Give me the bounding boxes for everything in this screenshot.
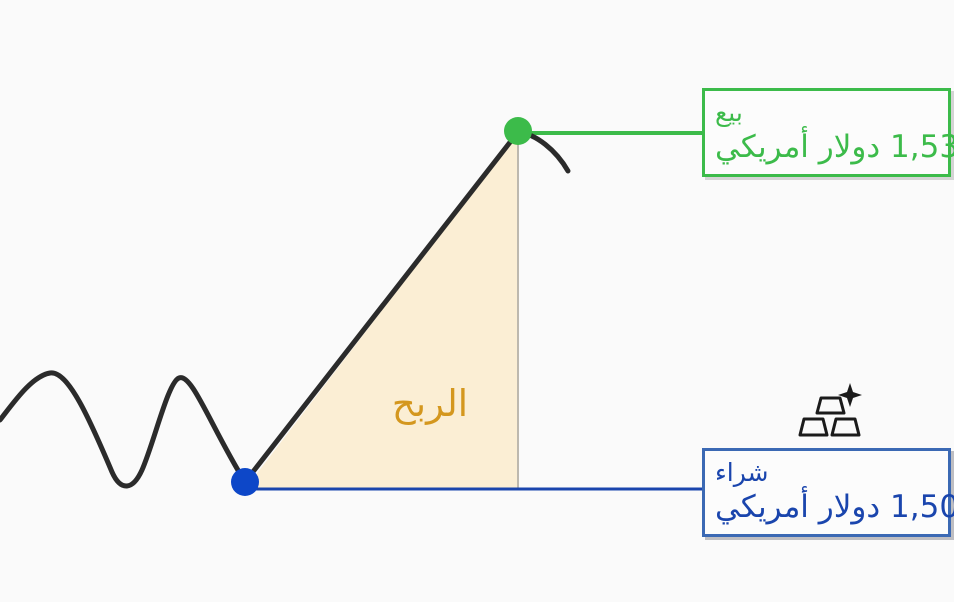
sell-point-marker[interactable] [504,117,532,145]
buy-callout-value: 1,500 دولار أمريكي [715,488,954,526]
gold-bar-bottom-left [800,419,827,435]
gold-bar-bottom-right [832,419,859,435]
gold-bars-icon [795,383,863,439]
buy-callout-box[interactable]: شراء 1,500 دولار أمريكي [702,448,951,537]
sell-callout-label: بيع [715,98,743,128]
gold-bar-top [817,398,844,413]
buy-callout-label: شراء [715,458,768,488]
gold-trade-diagram: الربح بيع 1,530 دولار أمريكي شراء 1,500 … [0,0,954,602]
buy-point-marker[interactable] [231,468,259,496]
sell-callout-value: 1,530 دولار أمريكي [715,128,954,166]
sell-callout-box[interactable]: بيع 1,530 دولار أمريكي [702,88,951,177]
profit-label: الربح [370,382,490,426]
